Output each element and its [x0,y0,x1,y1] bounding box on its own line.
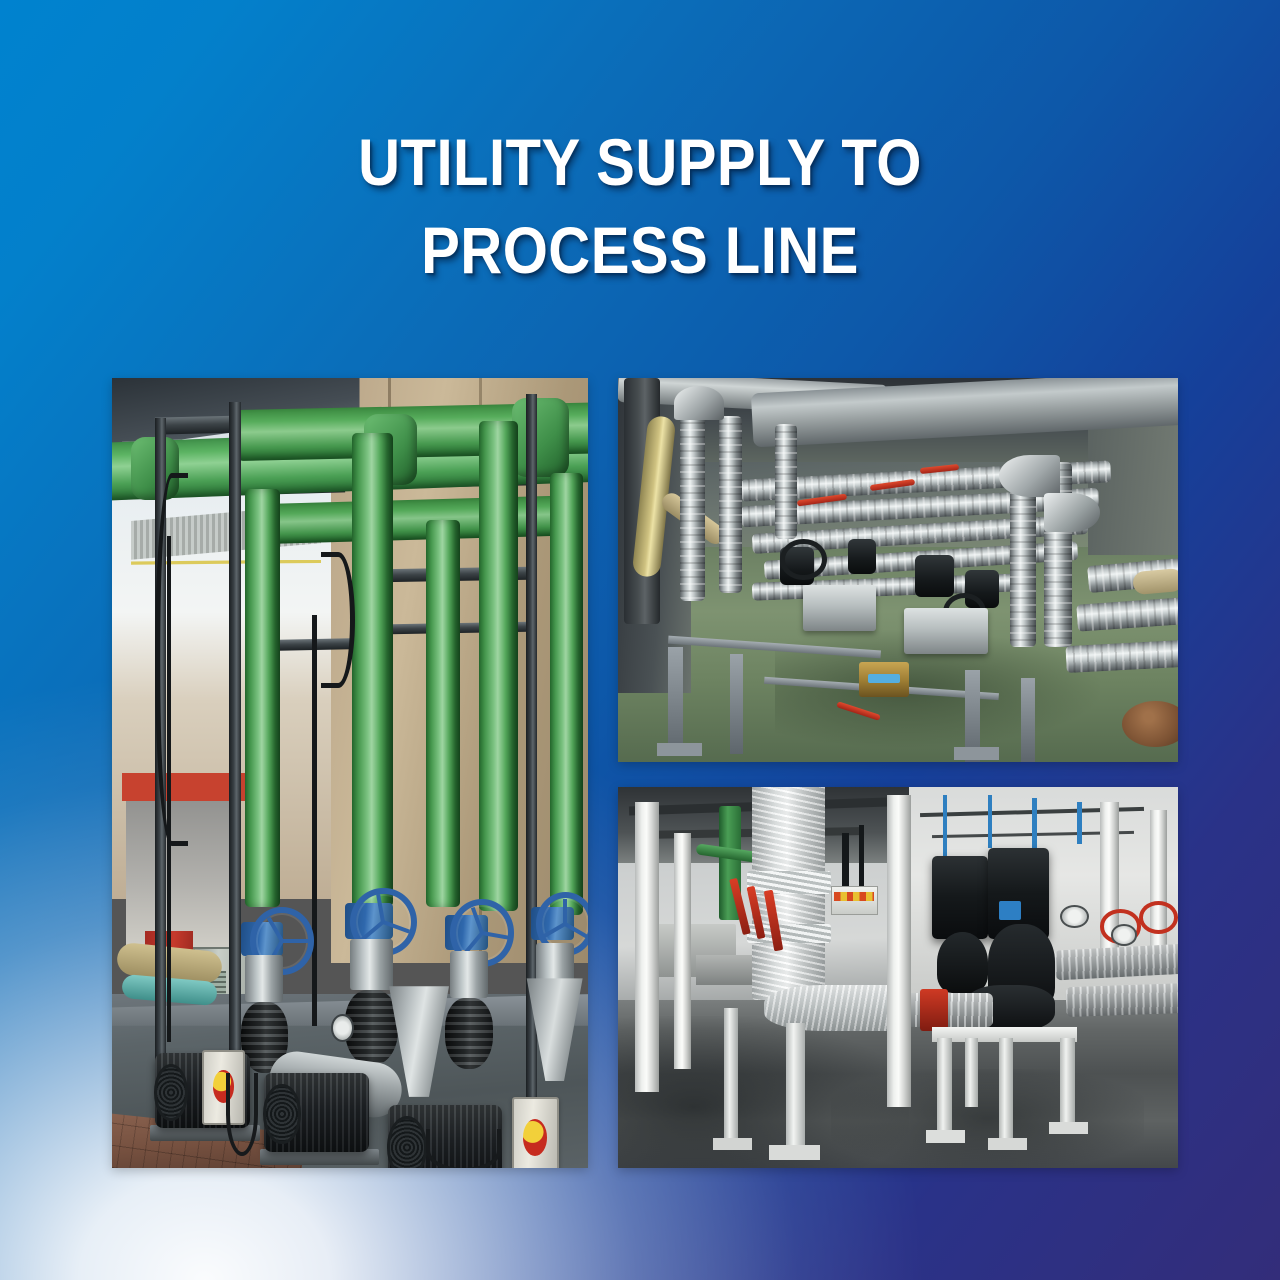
butterfly-valve-body [848,539,876,574]
clad-pipe-stub [1065,640,1178,673]
pressure-gauge-icon [1060,905,1089,928]
pressure-gauge-icon [331,1014,354,1042]
support-base-plate [657,743,702,756]
pump-stand-leg [937,1038,952,1137]
clad-pipe-elbow [1044,493,1100,531]
rusted-flange [1122,701,1178,747]
blue-hanger-rod [1032,798,1036,848]
clad-pipe-riser [719,416,743,593]
pipe-support-leg [730,654,743,754]
pipe-support-leg [668,647,683,755]
rubber-expansion-joint [445,998,493,1069]
cable-loop [155,473,189,846]
steel-frame-upright [229,402,241,1129]
page-title: UTILITY SUPPLY TO PROCESS LINE [77,118,1203,295]
pump-stand-leg [999,1038,1014,1145]
stand-base-plate [1049,1122,1088,1134]
photo-inline-pump-plant-room [618,787,1178,1168]
clad-pipe-riser [775,424,797,539]
cable-run [312,615,317,1026]
pipe-support-leg [1021,678,1034,762]
photo-aluminium-clad-insulated-pipe-header [618,378,1178,762]
valve-handwheel-icon [780,539,826,580]
motor-fan-cowl-icon [387,1116,427,1168]
green-pipe-elbow [512,398,569,477]
rotary-isolator-switch [512,1097,559,1168]
stainless-spool [350,939,393,990]
white-column [887,795,912,1107]
cable-loop [321,552,355,688]
brass-actuator-valve [859,662,909,697]
floor-wet-patch [831,1069,1145,1168]
background-machinery [696,955,752,985]
insulated-horizontal-pipe [1066,983,1178,1018]
clad-valve-box [803,585,876,631]
motor-fan-cowl-icon [263,1084,300,1144]
pump-motor [264,1073,369,1152]
flexible-conduit [226,1073,258,1156]
motor-fan-cowl-icon [154,1064,189,1121]
pump-stand-leg [1060,1038,1075,1129]
flexible-conduit [426,1129,501,1169]
blue-hanger-rod [1077,802,1081,844]
support-base-plate [769,1145,819,1160]
lagged-pipe-stub [1132,568,1178,595]
pressure-gauge-icon [1111,924,1137,946]
red-pipe-coupling [920,989,948,1031]
isolator-knob-icon [523,1119,547,1155]
green-riser-pipe [479,421,519,911]
clad-pipe-riser [680,401,706,601]
green-riser-pipe [352,433,393,907]
support-base-plate [954,747,999,760]
white-column [674,833,691,1069]
insulation-band [747,871,831,894]
inline-pump-body [937,932,987,993]
clad-pipe-elbow [999,455,1061,497]
poster-canvas: UTILITY SUPPLY TO PROCESS LINE [0,0,1280,1280]
blue-hanger-rod [943,795,947,856]
support-base-plate [713,1138,752,1151]
pump-nameplate [999,901,1021,920]
photo-green-frp-pump-skid [112,378,588,1168]
clad-valve-box [904,608,988,654]
butterfly-valve-body [915,555,954,597]
mcb-distribution-box [831,886,878,915]
green-riser-pipe [550,473,583,915]
pump-stand-leg [965,1038,977,1107]
inline-pump-motor [932,856,988,940]
clad-pipe-riser [1010,478,1036,647]
stand-base-plate [988,1138,1027,1151]
stainless-spool [450,951,488,998]
white-column [635,802,660,1092]
stainless-spool [245,955,283,1002]
cable-run [167,536,171,1042]
blue-hanger-rod [988,795,992,848]
riser-support-leg [724,1008,737,1145]
riser-support-leg [786,1023,805,1153]
green-riser-pipe [245,489,280,908]
green-riser-pipe [426,520,460,907]
clad-pipe-elbow [674,386,724,421]
stand-base-plate [926,1130,965,1143]
